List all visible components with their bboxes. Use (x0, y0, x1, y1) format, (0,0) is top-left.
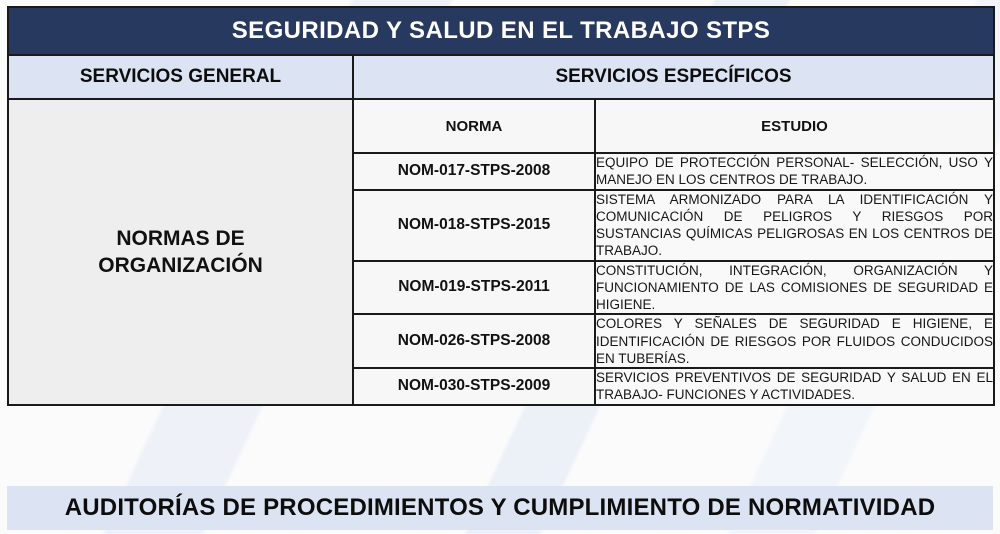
category-normas-de-organizacion: NORMAS DE ORGANIZACIÓN (8, 99, 353, 405)
norma-code: NOM-017-STPS-2008 (353, 153, 595, 190)
estudio-description: CONSTITUCIÓN, INTEGRACIÓN, ORGANIZACIÓN … (595, 261, 994, 315)
stps-table: SEGURIDAD Y SALUD EN EL TRABAJO STPS SER… (7, 6, 995, 406)
norma-code: NOM-026-STPS-2008 (353, 314, 595, 368)
stps-table-container: SEGURIDAD Y SALUD EN EL TRABAJO STPS SER… (7, 6, 993, 406)
table-title-row: SEGURIDAD Y SALUD EN EL TRABAJO STPS (8, 7, 994, 55)
header-servicios-general: SERVICIOS GENERAL (8, 55, 353, 99)
category-label-line2: ORGANIZACIÓN (9, 252, 352, 279)
estudio-description: EQUIPO DE PROTECCIÓN PERSONAL- SELECCIÓN… (595, 153, 994, 190)
table-subheader-row: NORMAS DE ORGANIZACIÓN NORMA ESTUDIO (8, 99, 994, 153)
norma-code: NOM-019-STPS-2011 (353, 261, 595, 315)
slide-canvas: SEGURIDAD Y SALUD EN EL TRABAJO STPS SER… (0, 0, 1000, 534)
estudio-description: COLORES Y SEÑALES DE SEGURIDAD E HIGIENE… (595, 314, 994, 368)
column-header-estudio: ESTUDIO (595, 99, 994, 153)
category-label-line1: NORMAS DE (9, 225, 352, 252)
table-header-row: SERVICIOS GENERAL SERVICIOS ESPECÍFICOS (8, 55, 994, 99)
estudio-description: SISTEMA ARMONIZADO PARA LA IDENTIFICACIÓ… (595, 190, 994, 261)
column-header-norma: NORMA (353, 99, 595, 153)
estudio-description: SERVICIOS PREVENTIVOS DE SEGURIDAD Y SAL… (595, 368, 994, 405)
bottom-banner: AUDITORÍAS DE PROCEDIMIENTOS Y CUMPLIMIE… (7, 486, 993, 530)
header-servicios-especificos: SERVICIOS ESPECÍFICOS (353, 55, 994, 99)
table-title: SEGURIDAD Y SALUD EN EL TRABAJO STPS (8, 7, 994, 55)
norma-code: NOM-030-STPS-2009 (353, 368, 595, 405)
norma-code: NOM-018-STPS-2015 (353, 190, 595, 261)
